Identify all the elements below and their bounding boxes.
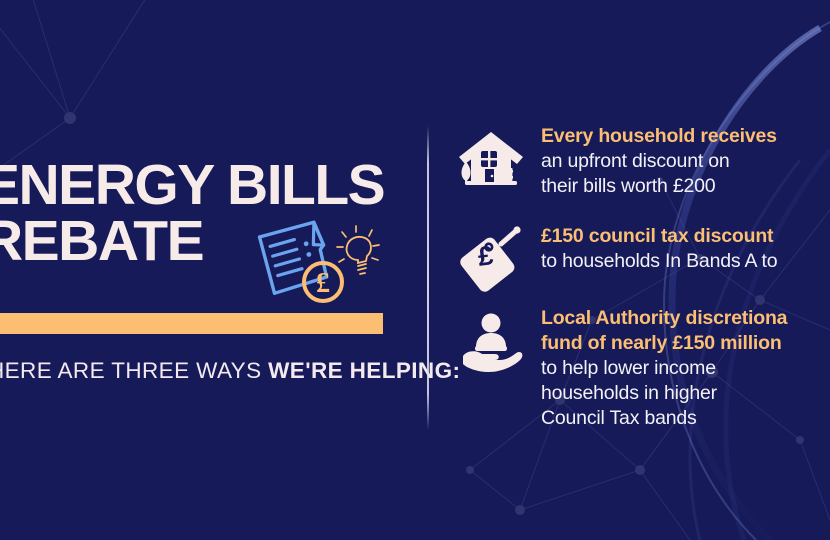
list-item-body-line: Council Tax bands	[541, 406, 830, 431]
list-item: Every household receives an upfront disc…	[455, 118, 830, 199]
vertical-divider	[427, 126, 429, 430]
list-item-heading: Every household receives	[541, 124, 830, 149]
lightbulb-icon	[337, 226, 379, 274]
list-item-text: Local Authority discretiona fund of near…	[541, 300, 830, 431]
list-item-text: £150 council tax discount to households …	[541, 218, 830, 274]
subtitle-normal: HERE ARE THREE WAYS	[0, 358, 268, 383]
subtitle-strong: WE'RE HELPING:	[268, 358, 460, 383]
tree-icon	[462, 162, 471, 184]
list-item-heading: fund of nearly £150 million	[541, 331, 830, 356]
accent-bar-divider	[0, 313, 383, 334]
list-item-heading: Local Authority discretiona	[541, 306, 830, 331]
list-item-heading: £150 council tax discount	[541, 224, 830, 249]
helping-hand-person-icon	[455, 306, 527, 378]
headline-line-1: ENERGY BILLS	[0, 153, 384, 217]
house-icon	[455, 124, 527, 196]
list-item-body-line: to households In Bands A to	[541, 249, 830, 274]
list-item-body-line: an upfront discount on	[541, 149, 830, 174]
list-item-text: Every household receives an upfront disc…	[541, 118, 830, 199]
subtitle: HERE ARE THREE WAYS WE'RE HELPING:	[0, 358, 408, 384]
list-item-body-line: to help lower income	[541, 356, 830, 381]
price-tag-pound-icon: £	[455, 220, 527, 292]
infographic-canvas: ENERGY BILLS REBATE	[0, 0, 830, 540]
list-item: £ £150 council tax discount to household…	[455, 218, 830, 292]
list-item: Local Authority discretiona fund of near…	[455, 300, 830, 431]
list-item-body-line: their bills worth £200	[541, 174, 830, 199]
list-item-body-line: households in higher	[541, 381, 830, 406]
title-panel: ENERGY BILLS REBATE	[0, 0, 428, 540]
svg-text:£: £	[316, 268, 330, 299]
bill-illustration-group: £	[246, 214, 386, 314]
